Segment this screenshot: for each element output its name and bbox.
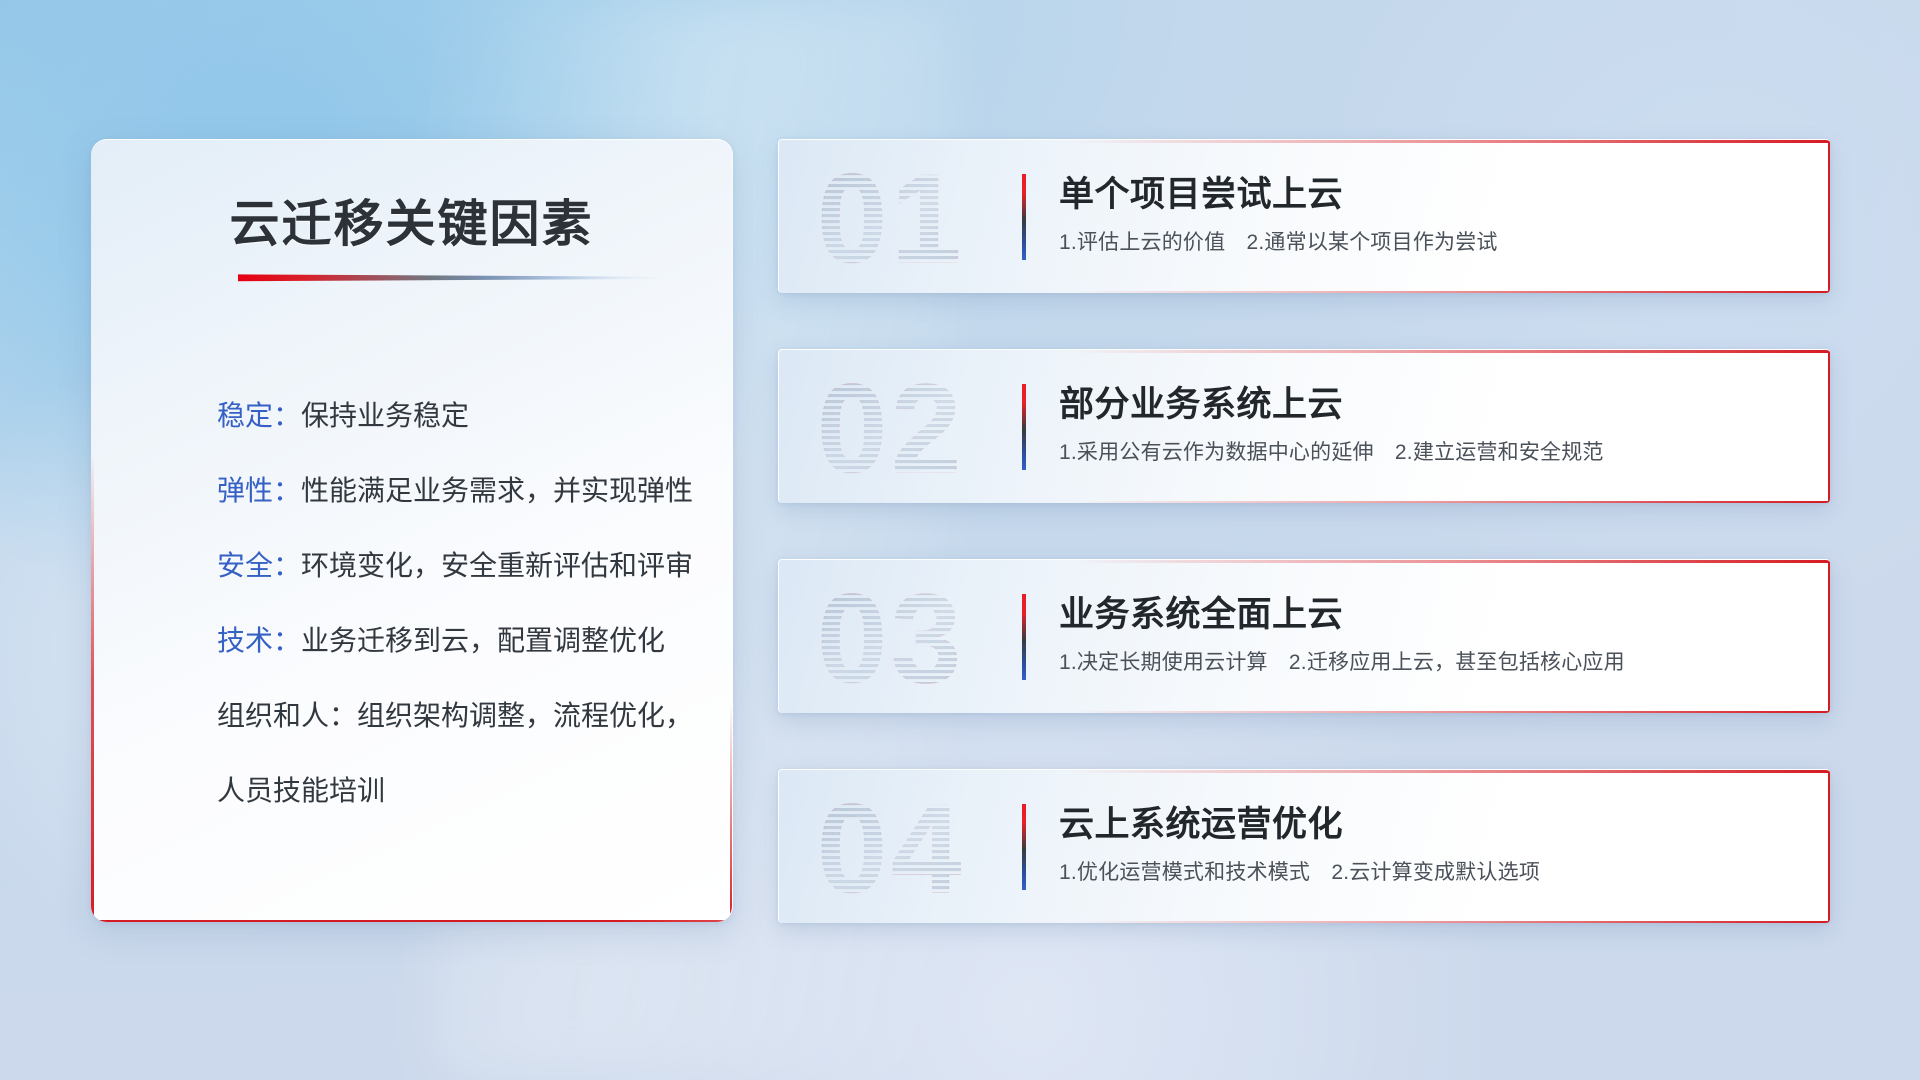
- list-item: 安全：环境变化，安全重新评估和评审: [217, 528, 690, 603]
- list-item-value: 环境变化，安全重新评估和评审: [301, 550, 693, 581]
- list-item: 人员技能培训: [217, 753, 690, 828]
- step-card[interactable]: 01 01 单个项目尝试上云 1.评估上云的价值 2.通常以某个项目作为尝试: [778, 139, 1830, 293]
- card-accent-right: [1828, 770, 1831, 923]
- panel-accent-bottom: [91, 920, 732, 923]
- step-card[interactable]: 03 03 业务系统全面上云 1.决定长期使用云计算 2.迁移应用上云，甚至包括…: [778, 559, 1830, 713]
- step-number-glyph: 01 01: [815, 154, 1015, 280]
- list-item: 组织和人：组织架构调整，流程优化，: [217, 678, 690, 753]
- list-item-value: 组织架构调整，流程优化，: [357, 700, 693, 731]
- list-item: 技术：业务迁移到云，配置调整优化: [217, 603, 690, 678]
- card-accent-top: [1073, 560, 1830, 563]
- step-card[interactable]: 04 04 云上系统运营优化 1.优化运营模式和技术模式 2.云计算变成默认选项: [778, 769, 1830, 923]
- list-item-key: 弹性：: [217, 475, 301, 506]
- card-accent-bottom: [1073, 921, 1830, 924]
- step-subtitle: 1.优化运营模式和技术模式 2.云计算变成默认选项: [1059, 856, 1540, 886]
- card-accent-top: [1073, 140, 1830, 143]
- card-accent-top: [1073, 770, 1830, 773]
- step-title: 单个项目尝试上云: [1059, 166, 1343, 217]
- step-accent-bar: [1022, 174, 1026, 260]
- step-subtitle: 1.评估上云的价值 2.通常以某个项目作为尝试: [1059, 226, 1498, 256]
- step-title: 业务系统全面上云: [1059, 586, 1343, 637]
- panel-title: 云迁移关键因素: [91, 184, 732, 256]
- step-card[interactable]: 02 02 部分业务系统上云 1.采用公有云作为数据中心的延伸 2.建立运营和安…: [778, 349, 1830, 503]
- step-title: 云上系统运营优化: [1059, 796, 1343, 847]
- step-number-outline: 02: [817, 364, 965, 490]
- step-number-glyph: 02 02: [815, 364, 1015, 490]
- card-accent-bottom: [1073, 711, 1830, 714]
- list-item: 弹性：性能满足业务需求，并实现弹性: [217, 453, 690, 528]
- key-factors-list: 稳定：保持业务稳定 弹性：性能满足业务需求，并实现弹性 安全：环境变化，安全重新…: [217, 378, 690, 828]
- step-subtitle: 1.决定长期使用云计算 2.迁移应用上云，甚至包括核心应用: [1059, 646, 1625, 676]
- step-accent-bar: [1022, 594, 1026, 680]
- card-accent-bottom: [1073, 291, 1830, 294]
- slide-stage: 云迁移关键因素 稳定：保持业: [0, 0, 1920, 1080]
- list-item-key: 安全：: [217, 550, 301, 581]
- key-factors-panel: 云迁移关键因素 稳定：保持业: [91, 139, 733, 922]
- list-item-value: 性能满足业务需求，并实现弹性: [301, 475, 693, 506]
- step-number-outline: 03: [817, 574, 965, 700]
- step-accent-bar: [1022, 384, 1026, 470]
- step-title: 部分业务系统上云: [1059, 376, 1343, 427]
- list-item-key: 技术：: [217, 625, 301, 656]
- list-item-key: 组织和人：: [217, 700, 357, 731]
- step-number-outline: 01: [817, 154, 965, 280]
- title-divider: [238, 273, 658, 282]
- card-accent-right: [1828, 350, 1831, 503]
- panel-accent-right: [730, 703, 733, 922]
- step-accent-bar: [1022, 804, 1026, 890]
- panel-accent-left: [91, 453, 94, 922]
- list-item-key: 稳定：: [217, 400, 301, 431]
- card-accent-right: [1828, 140, 1831, 293]
- card-accent-bottom: [1073, 501, 1830, 504]
- list-item-value: 业务迁移到云，配置调整优化: [301, 625, 665, 656]
- step-subtitle: 1.采用公有云作为数据中心的延伸 2.建立运营和安全规范: [1059, 436, 1604, 466]
- step-number-glyph: 04 04: [815, 784, 1015, 910]
- list-item-value: 保持业务稳定: [301, 400, 469, 431]
- list-item-value: 人员技能培训: [217, 775, 385, 806]
- card-accent-right: [1828, 560, 1831, 713]
- card-accent-top: [1073, 350, 1830, 353]
- step-number-outline: 04: [817, 784, 965, 910]
- list-item: 稳定：保持业务稳定: [217, 378, 690, 453]
- step-number-glyph: 03 03: [815, 574, 1015, 700]
